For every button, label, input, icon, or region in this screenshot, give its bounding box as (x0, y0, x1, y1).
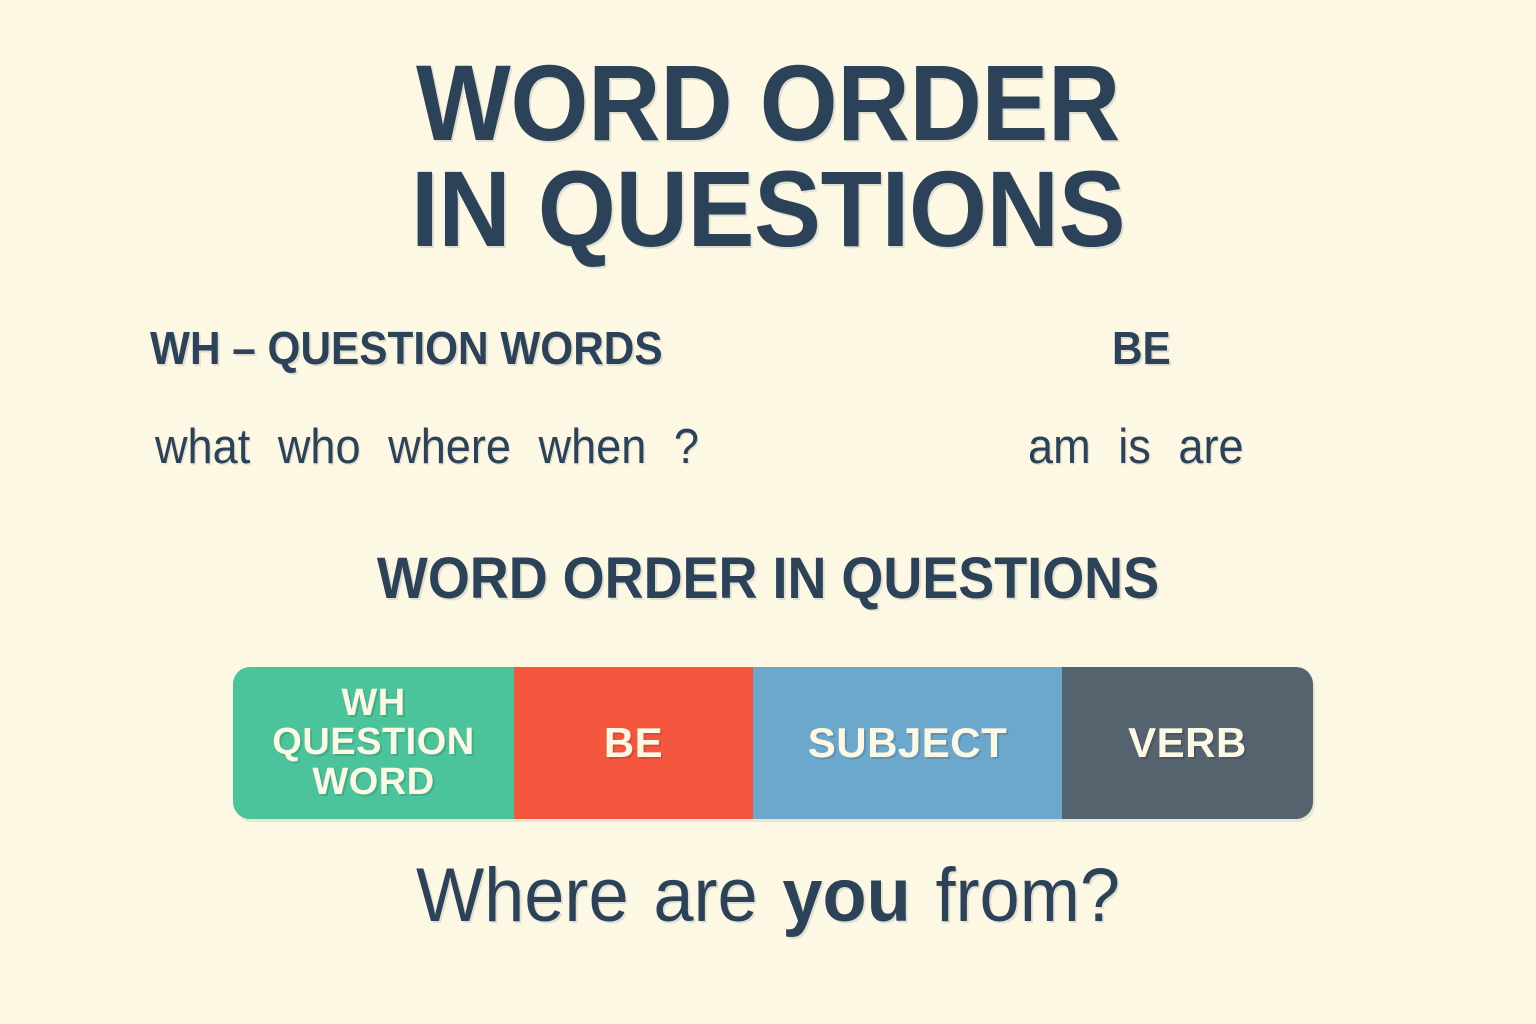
column-heading-be: BE (1112, 325, 1171, 371)
page-title: WORD ORDER IN QUESTIONS (0, 50, 1536, 262)
example-token: from? (935, 853, 1120, 938)
example-token: you (782, 853, 910, 938)
bar-segment-line: SUBJECT (808, 721, 1008, 764)
word-chip: who (278, 420, 361, 474)
page-title-line-1: WORD ORDER (54, 50, 1482, 156)
example-sentence: Whereareyoufrom? (38, 858, 1497, 934)
bar-segment-label: SUBJECT (808, 721, 1008, 764)
bar-segment-line: WORD (272, 763, 474, 802)
bar-segment-label: VERB (1128, 721, 1247, 764)
word-chip: is (1118, 420, 1151, 474)
bar-segment-line: VERB (1128, 721, 1247, 764)
word-chip: when (539, 420, 647, 474)
word-chip: are (1178, 420, 1243, 474)
bar-segment-line: BE (604, 721, 663, 764)
word-chip: am (1028, 420, 1091, 474)
bar-segment-be: BE (514, 667, 753, 819)
bar-segment-wh-question-word: WHQUESTIONWORD (233, 667, 514, 819)
word-chip: ? (674, 420, 699, 474)
word-chip: where (388, 420, 511, 474)
word-chip: what (155, 420, 250, 474)
bar-segment-line: WH (272, 684, 474, 723)
column-words-wh: whatwhowherewhen? (155, 423, 699, 472)
example-token: are (653, 853, 757, 938)
bar-segment-verb: VERB (1062, 667, 1313, 819)
section-heading: WORD ORDER IN QUESTIONS (54, 550, 1482, 608)
column-words-be: amisare (1028, 423, 1244, 472)
page-title-line-2: IN QUESTIONS (54, 156, 1482, 262)
bar-segment-label: BE (604, 721, 663, 764)
infographic-canvas: WORD ORDER IN QUESTIONS WH – QUESTION WO… (0, 0, 1536, 1024)
bar-segment-label: WHQUESTIONWORD (272, 684, 474, 801)
word-order-bar: WHQUESTIONWORDBESUBJECTVERB (233, 667, 1313, 819)
bar-segment-subject: SUBJECT (753, 667, 1062, 819)
example-token: Where (416, 853, 629, 938)
column-heading-wh: WH – QUESTION WORDS (150, 325, 663, 371)
reference-columns: WH – QUESTION WORDS whatwhowherewhen? BE… (0, 325, 1536, 475)
bar-segment-line: QUESTION (272, 723, 474, 762)
